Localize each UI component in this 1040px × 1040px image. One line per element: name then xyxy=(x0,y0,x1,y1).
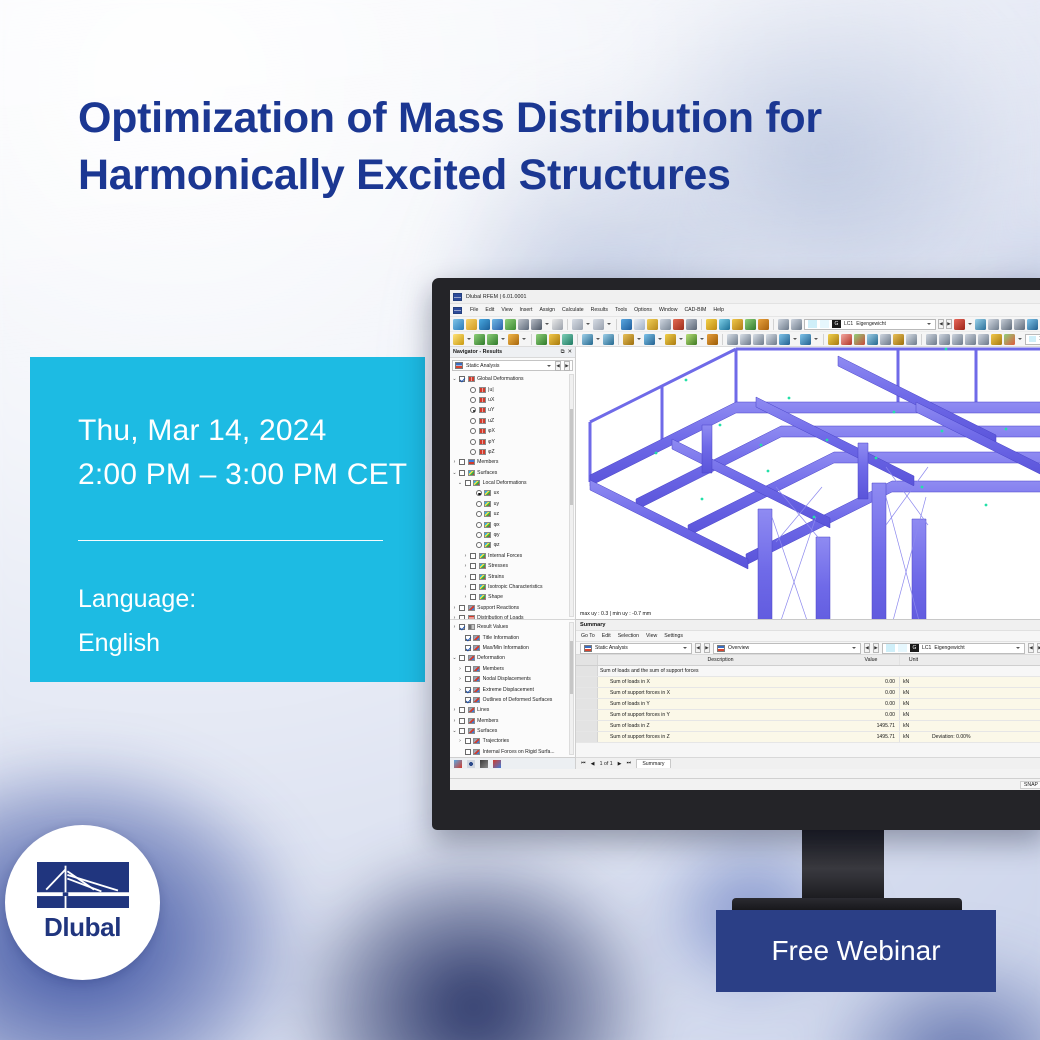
menu-insert[interactable]: Insert xyxy=(519,307,532,313)
tree-twisty-icon[interactable]: › xyxy=(463,584,468,590)
tree-item-label: Nodal Displacements xyxy=(483,676,531,682)
tree-checkbox[interactable] xyxy=(465,645,471,651)
table-row[interactable]: Sum of support forces in Z1495.71kNDevia… xyxy=(576,732,1040,743)
tree-item[interactable]: ⌄Global Deformations xyxy=(450,374,575,384)
tree-checkbox[interactable] xyxy=(459,459,465,465)
tree-radio[interactable] xyxy=(476,522,482,528)
tree-item[interactable]: ⌄Surfaces xyxy=(450,726,575,736)
redo-icon[interactable] xyxy=(593,319,604,330)
menu-help[interactable]: Help xyxy=(713,307,724,313)
result-table-icon[interactable] xyxy=(758,319,769,330)
display-navigator-icon[interactable] xyxy=(493,760,501,768)
next-page-button[interactable]: ▶ xyxy=(618,761,622,767)
view-iso-icon[interactable] xyxy=(965,334,976,345)
toolbar-separator xyxy=(577,334,578,345)
menu-cad-bim[interactable]: CAD-BIM xyxy=(684,307,706,313)
summary-menu-edit[interactable]: Edit xyxy=(602,633,611,639)
tree-twisty-icon[interactable]: › xyxy=(452,624,457,630)
cell-note: Deviation: 0.00% xyxy=(927,734,1040,740)
tree-item[interactable]: φZ xyxy=(450,447,575,457)
status-badge-snap[interactable]: SNAP xyxy=(1020,781,1040,789)
menu-calculate[interactable]: Calculate xyxy=(562,307,584,313)
tree-twisty-icon[interactable]: › xyxy=(458,687,463,693)
cell-value: 1495.71 xyxy=(843,734,899,740)
cell-value: 0.00 xyxy=(843,701,899,707)
chevron-down-icon[interactable] xyxy=(547,365,551,367)
results-on-off-icon[interactable] xyxy=(732,319,743,330)
menu-view[interactable]: View xyxy=(501,307,512,313)
render-mode-icon[interactable] xyxy=(991,334,1002,345)
tree-twisty-icon[interactable]: › xyxy=(463,574,468,580)
group-label: Sum of loads and the sum of support forc… xyxy=(598,668,1040,674)
load-case-spin-prev[interactable]: ◀ xyxy=(938,319,944,329)
mirror-icon[interactable] xyxy=(753,334,764,345)
analysis-prev-button[interactable]: ◀ xyxy=(555,361,561,371)
tree-item-icon xyxy=(473,645,480,651)
tree-radio[interactable] xyxy=(470,407,476,413)
tree-item[interactable]: ›Stresses xyxy=(450,561,575,571)
tree-twisty-icon[interactable]: ⌄ xyxy=(452,470,457,476)
tree-radio[interactable] xyxy=(470,449,476,455)
tab-summary[interactable]: Summary xyxy=(636,759,670,768)
load-case-color-swatch xyxy=(808,320,817,328)
project-icon[interactable] xyxy=(505,319,516,330)
menu-assign[interactable]: Assign xyxy=(539,307,555,313)
support-caret[interactable] xyxy=(596,338,600,340)
connect-icon[interactable] xyxy=(779,334,790,345)
open-file-icon[interactable] xyxy=(466,319,477,330)
tree-item[interactable]: ›Nodal Displacements xyxy=(450,674,575,684)
workplane-icon[interactable] xyxy=(1027,319,1038,330)
summary-menu-bar[interactable]: Go To Edit Selection View Settings xyxy=(576,631,1040,642)
tree-twisty-icon[interactable]: › xyxy=(452,459,457,465)
tree-item[interactable]: φx xyxy=(450,519,575,529)
new-model-icon[interactable] xyxy=(453,319,464,330)
summary-pager[interactable]: ⏮ ◀ 1 of 1 ▶ ⏭ Summary xyxy=(576,757,1040,769)
undo-icon[interactable] xyxy=(572,319,583,330)
tree-item[interactable]: ›Shape xyxy=(450,592,575,602)
webinar-date: Thu, Mar 14, 2024 xyxy=(78,409,425,453)
tree-item[interactable]: ›Members xyxy=(450,457,575,467)
navigator-scrollbar-2[interactable] xyxy=(569,622,574,755)
save-icon[interactable] xyxy=(518,319,529,330)
tree-item-icon xyxy=(468,655,475,661)
menu-results[interactable]: Results xyxy=(591,307,608,313)
tree-checkbox[interactable] xyxy=(470,594,476,600)
nodal-support-icon[interactable] xyxy=(582,334,593,345)
dlubal-logo: Dlubal xyxy=(5,825,160,980)
scale-icon[interactable] xyxy=(766,334,777,345)
load-case-next-icon[interactable] xyxy=(791,319,802,330)
zoom-results-icon[interactable] xyxy=(719,319,730,330)
tree-checkbox[interactable] xyxy=(470,574,476,580)
summary-menu-selection[interactable]: Selection xyxy=(618,633,639,639)
free-webinar-button[interactable]: Free Webinar xyxy=(716,910,996,992)
tree-item-label: Members xyxy=(477,718,498,724)
summary-table[interactable]: Description Value Unit Sum of loads and … xyxy=(576,655,1040,757)
show-table-icon[interactable] xyxy=(634,319,645,330)
summary-view-combo[interactable]: Overview xyxy=(713,643,861,654)
tree-checkbox[interactable] xyxy=(465,687,471,693)
tree-item[interactable]: uz xyxy=(450,509,575,519)
new-opening-icon[interactable] xyxy=(562,334,573,345)
tree-radio[interactable] xyxy=(470,397,476,403)
tree-item[interactable]: Outlines of Deformed Surfaces xyxy=(450,695,575,705)
divide-icon[interactable] xyxy=(800,334,811,345)
tree-item[interactable]: ›Support Reactions xyxy=(450,603,575,613)
navigator-tree-results[interactable]: ⌄Global Deformations|u|uXuYuZφXφYφZ›Memb… xyxy=(450,372,575,619)
summary-control-row[interactable]: Static Analysis ◀ ▶ Overview ◀ ▶ xyxy=(576,642,1040,655)
tree-checkbox[interactable] xyxy=(470,584,476,590)
dlubal-menu-icon xyxy=(453,307,462,314)
tree-item-label: Shape xyxy=(488,594,503,600)
prev-page-button[interactable]: ◀ xyxy=(591,761,595,767)
select-filter-icon[interactable] xyxy=(828,334,839,345)
tree-radio[interactable] xyxy=(476,542,482,548)
tree-item-icon xyxy=(484,522,491,528)
color-scale-icon[interactable] xyxy=(1004,334,1015,345)
tree-checkbox[interactable] xyxy=(470,563,476,569)
redo-dropdown-caret[interactable] xyxy=(607,323,611,325)
table-row[interactable]: Sum of support forces in X0.00kN xyxy=(576,688,1040,699)
close-icon[interactable]: ✕ xyxy=(567,349,572,355)
tree-item-label: Result Values xyxy=(477,624,508,630)
chevron-down-icon[interactable] xyxy=(927,323,931,325)
cell-description: Sum of support forces in Y xyxy=(598,712,843,718)
background-layer-icon[interactable] xyxy=(660,319,671,330)
tree-twisty-icon[interactable]: › xyxy=(458,738,463,744)
analysis-type-value: Static Analysis xyxy=(466,363,543,369)
tree-item[interactable]: |u| xyxy=(450,384,575,394)
page-title-line-2: Harmonically Excited Structures xyxy=(78,147,978,204)
tree-checkbox[interactable] xyxy=(465,676,471,682)
menu-bar[interactable]: File Edit View Insert Assign Calculate R… xyxy=(450,304,1040,317)
tree-twisty-icon[interactable]: ⌄ xyxy=(452,655,457,661)
tree-twisty-icon[interactable]: › xyxy=(458,666,463,672)
tree-item[interactable]: ⌄Deformation xyxy=(450,653,575,663)
divide-caret[interactable] xyxy=(814,338,818,340)
tree-checkbox[interactable] xyxy=(465,697,471,703)
tree-twisty-icon[interactable]: › xyxy=(452,707,457,713)
tree-radio[interactable] xyxy=(476,511,482,517)
printout-report-icon[interactable] xyxy=(552,319,563,330)
table-row[interactable]: Sum of loads in Y0.00kN xyxy=(576,699,1040,710)
tree-radio[interactable] xyxy=(476,501,482,507)
results-navigator-icon[interactable] xyxy=(454,760,462,768)
tree-checkbox[interactable] xyxy=(465,738,471,744)
tree-item[interactable]: ›Trajectories xyxy=(450,736,575,746)
last-page-button[interactable]: ⏭ xyxy=(627,760,632,767)
measure-icon[interactable] xyxy=(906,334,917,345)
new-line-icon[interactable] xyxy=(474,334,485,345)
tree-item-label: Stresses xyxy=(488,563,508,569)
navigator-tree-result-values[interactable]: ›Result ValuesTitle InformationMax/Min I… xyxy=(450,619,575,757)
member-caret[interactable] xyxy=(522,338,526,340)
tree-checkbox[interactable] xyxy=(459,470,465,476)
table-row[interactable]: Sum of loads in Z1495.71kN xyxy=(576,721,1040,732)
toolbar-separator xyxy=(823,334,824,345)
tree-item[interactable]: φz xyxy=(450,540,575,550)
nodal-load-icon[interactable] xyxy=(623,334,634,345)
view-navigator-icon[interactable] xyxy=(467,760,475,768)
tree-item-icon xyxy=(473,676,480,682)
line-support-icon[interactable] xyxy=(603,334,614,345)
line-caret[interactable] xyxy=(501,338,505,340)
view-angle-icon[interactable] xyxy=(978,334,989,345)
analysis-icon xyxy=(584,645,592,652)
tree-item[interactable]: Internal Forces on Rigid Surfa... xyxy=(450,747,575,757)
tree-checkbox[interactable] xyxy=(465,480,471,486)
tree-twisty-icon[interactable]: ⌄ xyxy=(458,480,463,486)
summary-view-next[interactable]: ▶ xyxy=(873,643,879,653)
connect-caret[interactable] xyxy=(793,338,797,340)
tree-twisty-icon[interactable]: › xyxy=(463,594,468,600)
tree-item-icon xyxy=(479,594,486,600)
tree-item[interactable]: uX xyxy=(450,395,575,405)
tree-checkbox[interactable] xyxy=(459,376,465,382)
tree-item-label: Surfaces xyxy=(477,728,497,734)
line-load-icon[interactable] xyxy=(644,334,655,345)
load-case-prev-icon[interactable] xyxy=(778,319,789,330)
tree-item[interactable]: ›Internal Forces xyxy=(450,551,575,561)
dlubal-app-icon xyxy=(453,293,462,301)
undock-icon[interactable]: ⧉ xyxy=(561,349,565,356)
tree-item[interactable]: φX xyxy=(450,426,575,436)
rotate-icon[interactable] xyxy=(740,334,751,345)
nodal-load-caret[interactable] xyxy=(637,338,641,340)
tree-twisty-icon[interactable]: › xyxy=(458,676,463,682)
tree-radio[interactable] xyxy=(470,387,476,393)
tree-checkbox[interactable] xyxy=(465,635,471,641)
tree-item[interactable]: ›Members xyxy=(450,664,575,674)
structural-model-3d[interactable] xyxy=(576,347,1040,619)
node-caret[interactable] xyxy=(467,338,471,340)
summary-menu-goto[interactable]: Go To xyxy=(581,633,595,639)
view-front-icon[interactable] xyxy=(926,334,937,345)
snap-settings-icon[interactable] xyxy=(975,319,986,330)
mesh-icon[interactable] xyxy=(673,319,684,330)
dimension-icon[interactable] xyxy=(1001,319,1012,330)
tree-item-label: Local Deformations xyxy=(483,480,527,486)
summary-view-prev[interactable]: ◀ xyxy=(864,643,870,653)
tree-item-label: Deformation xyxy=(477,655,505,661)
free-load-caret[interactable] xyxy=(700,338,704,340)
colors-icon[interactable] xyxy=(854,334,865,345)
menu-tools[interactable]: Tools xyxy=(615,307,627,313)
print-dropdown-caret[interactable] xyxy=(545,323,549,325)
load-case-code: LC1 xyxy=(844,321,853,327)
tree-radio[interactable] xyxy=(476,490,482,496)
tree-checkbox[interactable] xyxy=(459,624,465,630)
summary-analysis-combo[interactable]: Static Analysis xyxy=(580,643,692,654)
tree-item[interactable]: ›Result Values xyxy=(450,622,575,632)
tree-twisty-icon[interactable]: › xyxy=(452,605,457,611)
tree-item[interactable]: uZ xyxy=(450,416,575,426)
tree-checkbox[interactable] xyxy=(470,553,476,559)
free-load-icon[interactable] xyxy=(686,334,697,345)
tree-checkbox[interactable] xyxy=(459,605,465,611)
tree-checkbox[interactable] xyxy=(465,666,471,672)
navigator-header: Navigator - Results ⧉ ✕ xyxy=(450,347,575,358)
tree-item-label: Extreme Displacement xyxy=(483,687,534,693)
tree-checkbox[interactable] xyxy=(465,749,471,755)
summary-load-case-combo[interactable]: G LC1 Eigengewicht xyxy=(882,643,1025,654)
toolbar-separator xyxy=(921,334,922,345)
page-title-line-1: Optimization of Mass Distribution for xyxy=(78,90,978,147)
new-node-icon[interactable] xyxy=(453,334,464,345)
tree-item-icon xyxy=(468,459,475,465)
tree-item[interactable]: ⌄Local Deformations xyxy=(450,478,575,488)
move-icon[interactable] xyxy=(727,334,738,345)
cell-unit: kN xyxy=(899,732,927,742)
tree-item-icon xyxy=(479,553,486,559)
result-diagram-icon[interactable] xyxy=(745,319,756,330)
color-scale-caret[interactable] xyxy=(1018,338,1022,340)
tree-item[interactable]: ›Extreme Displacement xyxy=(450,684,575,694)
tree-item[interactable]: uY xyxy=(450,405,575,415)
delete-results-icon[interactable] xyxy=(954,319,965,330)
menu-file[interactable]: File xyxy=(470,307,478,313)
view-side-icon[interactable] xyxy=(952,334,963,345)
tree-twisty-icon[interactable]: › xyxy=(463,563,468,569)
load-case-name: Eigengewicht xyxy=(856,321,923,327)
model-viewport[interactable]: max uy : 0.3 | min uy : -0.7 mm xyxy=(576,347,1040,619)
summary-title: Summary xyxy=(576,620,1040,631)
tree-item[interactable]: ⌄Surfaces xyxy=(450,468,575,478)
tree-item[interactable]: ›Members xyxy=(450,716,575,726)
surface-load-caret[interactable] xyxy=(679,338,683,340)
tree-item-icon xyxy=(479,563,486,569)
imperfection-icon[interactable] xyxy=(707,334,718,345)
toolbar-separator xyxy=(722,334,723,345)
toolbar-row-primary[interactable]: G LC1 Eigengewicht ◀ ▶ xyxy=(450,317,1040,332)
new-solid-icon[interactable] xyxy=(549,334,560,345)
load-case-spin-next[interactable]: ▶ xyxy=(946,319,952,329)
summary-analysis-prev[interactable]: ◀ xyxy=(695,643,701,653)
table-group-row: Sum of loads and the sum of support forc… xyxy=(576,666,1040,677)
undo-dropdown-caret[interactable] xyxy=(586,323,590,325)
column-header-unit: Unit xyxy=(899,655,927,665)
coordinate-system-combo[interactable]: 1 - Global ... xyxy=(1025,334,1040,345)
new-member-icon[interactable] xyxy=(508,334,519,345)
summary-menu-settings[interactable]: Settings xyxy=(664,633,683,639)
tree-radio[interactable] xyxy=(470,418,476,424)
tree-item[interactable]: Title Information xyxy=(450,632,575,642)
tree-radio[interactable] xyxy=(470,439,476,445)
tree-twisty-icon[interactable]: › xyxy=(452,718,457,724)
tree-item[interactable]: φY xyxy=(450,436,575,446)
tree-item[interactable]: uy xyxy=(450,499,575,509)
tree-checkbox[interactable] xyxy=(459,655,465,661)
print-icon[interactable] xyxy=(531,319,542,330)
tree-checkbox[interactable] xyxy=(459,718,465,724)
tree-item[interactable]: ux xyxy=(450,488,575,498)
load-case-type-badge: G xyxy=(832,320,841,328)
tree-item[interactable]: Max/Min Information xyxy=(450,643,575,653)
load-case-combo[interactable]: G LC1 Eigengewicht xyxy=(804,319,936,330)
annotate-icon[interactable] xyxy=(893,334,904,345)
overview-icon xyxy=(717,645,725,652)
tree-item[interactable]: φy xyxy=(450,530,575,540)
tree-checkbox[interactable] xyxy=(459,707,465,713)
guidelines-icon[interactable] xyxy=(988,319,999,330)
tree-item-label: φx xyxy=(494,522,500,528)
tree-item-label: φY xyxy=(488,439,495,445)
tree-twisty-icon[interactable]: ⌄ xyxy=(452,728,457,734)
summary-lc-prev[interactable]: ◀ xyxy=(1028,643,1034,653)
summary-panel: Summary Go To Edit Selection View Settin… xyxy=(576,619,1040,769)
tree-twisty-icon[interactable]: ⌄ xyxy=(452,376,457,382)
table-row[interactable]: Sum of support forces in Y0.00kN xyxy=(576,710,1040,721)
tree-item-icon xyxy=(479,407,486,413)
summary-analysis-next[interactable]: ▶ xyxy=(704,643,710,653)
new-line-dim-icon[interactable] xyxy=(487,334,498,345)
tree-item-icon xyxy=(473,738,480,744)
tree-item-label: uZ xyxy=(488,418,494,424)
import-icon[interactable] xyxy=(479,319,490,330)
row-gutter xyxy=(576,699,598,709)
render-navigator-icon[interactable] xyxy=(480,760,488,768)
clipping-icon[interactable] xyxy=(880,334,891,345)
tree-radio[interactable] xyxy=(470,428,476,434)
show-navigator-icon[interactable] xyxy=(621,319,632,330)
tree-item-icon xyxy=(468,624,475,630)
chevron-down-icon[interactable] xyxy=(683,647,687,649)
show-panel-icon[interactable] xyxy=(647,319,658,330)
export-icon[interactable] xyxy=(492,319,503,330)
grid-icon[interactable] xyxy=(1014,319,1025,330)
chevron-down-icon[interactable] xyxy=(1016,647,1020,649)
row-gutter xyxy=(576,732,598,742)
tree-item[interactable]: ›Strains xyxy=(450,571,575,581)
tree-twisty-icon[interactable]: › xyxy=(463,553,468,559)
menu-window[interactable]: Window xyxy=(659,307,677,313)
tree-item[interactable]: ›Isotropic Characteristics xyxy=(450,582,575,592)
viewport-and-summary: max uy : 0.3 | min uy : -0.7 mm Summary … xyxy=(576,347,1040,769)
monitor-stand-neck xyxy=(802,826,884,904)
visibility-icon[interactable] xyxy=(841,334,852,345)
tree-item[interactable]: ›Lines xyxy=(450,705,575,715)
line-load-caret[interactable] xyxy=(658,338,662,340)
view-top-icon[interactable] xyxy=(939,334,950,345)
surface-load-icon[interactable] xyxy=(665,334,676,345)
navigator-footer-tabs[interactable] xyxy=(450,757,575,769)
menu-edit[interactable]: Edit xyxy=(485,307,494,313)
new-surface-icon[interactable] xyxy=(536,334,547,345)
tree-item-label: Internal Forces xyxy=(488,553,522,559)
chevron-down-icon[interactable] xyxy=(852,647,856,649)
row-gutter xyxy=(576,655,598,665)
tree-checkbox[interactable] xyxy=(459,728,465,734)
navigator-scrollbar[interactable] xyxy=(569,374,574,617)
analysis-type-combo[interactable]: Static Analysis ◀ ▶ xyxy=(452,360,573,371)
calculate-icon[interactable] xyxy=(706,319,717,330)
tree-item-label: φX xyxy=(488,428,495,434)
analysis-next-button[interactable]: ▶ xyxy=(564,361,570,371)
first-page-button[interactable]: ⏮ xyxy=(581,760,586,767)
row-gutter xyxy=(576,666,598,676)
section-icon[interactable] xyxy=(867,334,878,345)
toolbar-row-secondary[interactable]: 1 - Global ... xyxy=(450,332,1040,347)
column-header-description: Description xyxy=(598,657,843,663)
table-row[interactable]: Sum of loads in X0.00kN xyxy=(576,677,1040,688)
tree-radio[interactable] xyxy=(476,532,482,538)
summary-menu-view[interactable]: View xyxy=(646,633,657,639)
delete-results-caret[interactable] xyxy=(968,323,972,325)
rendering-icon[interactable] xyxy=(686,319,697,330)
tree-item-icon xyxy=(484,501,491,507)
menu-options[interactable]: Options xyxy=(634,307,652,313)
